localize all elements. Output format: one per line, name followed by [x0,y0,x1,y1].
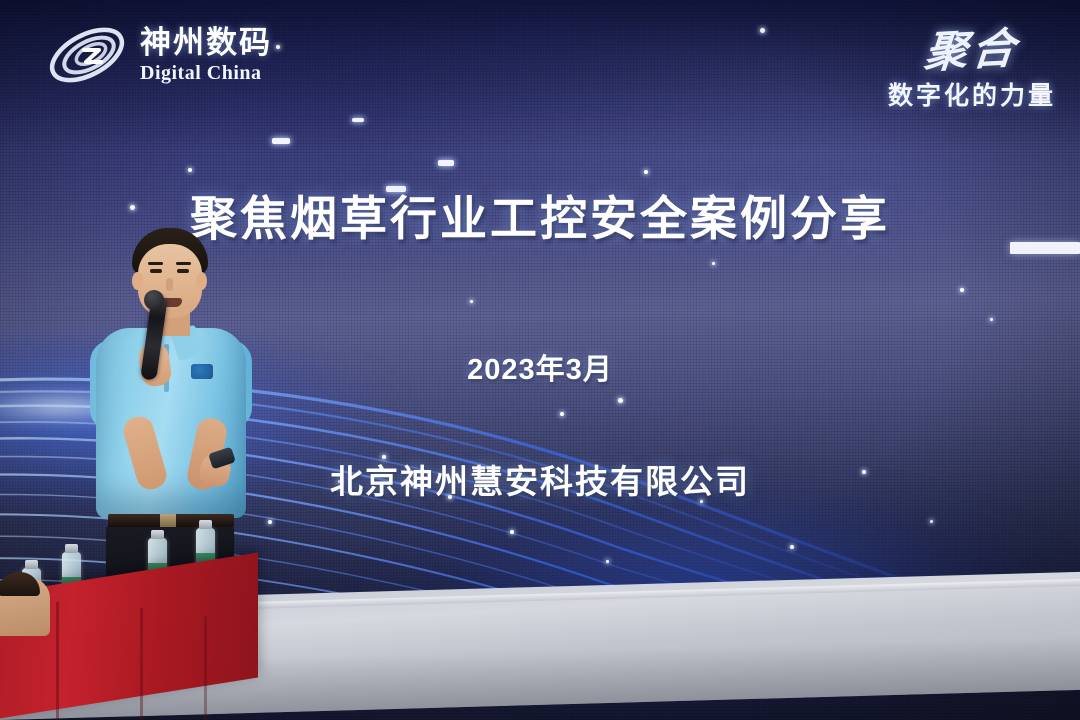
bottle-cap [199,520,212,529]
presenter-ear-right [196,272,207,290]
bottle-cap [25,560,38,569]
event-theme-logo: 聚合 数字化的力量 [888,16,1056,112]
digital-china-english-name: Digital China [140,63,272,83]
bottle-cap [65,544,78,553]
presenter-eye-left [150,269,162,273]
swirl-spiral-icon [44,18,130,92]
cloth-fold [204,616,207,720]
cloth-fold [140,608,143,720]
presenter-ear-left [132,272,143,290]
presenter-eyebrow-left [148,262,163,265]
digital-china-logo: 神州数码 Digital China [44,18,272,92]
cloth-fold [56,602,59,720]
event-subtitle-text: 数字化的力量 [888,76,1056,112]
presenter-eye-right [177,269,189,273]
bottle-cap [151,530,164,539]
presenter-chest-logo [191,364,213,379]
screen-edge-light-bar [1010,242,1080,254]
presenter-belt-buckle [160,514,176,527]
conference-stage-photo: 神州数码 Digital China 聚合 数字化的力量 聚焦烟草行业工控安全案… [0,0,1080,720]
presenter-eyebrow-right [176,262,191,265]
event-calligraphy-text: 聚合 [922,14,1022,81]
digital-china-chinese-name: 神州数码 [140,27,272,58]
presenter-nose [166,278,173,291]
